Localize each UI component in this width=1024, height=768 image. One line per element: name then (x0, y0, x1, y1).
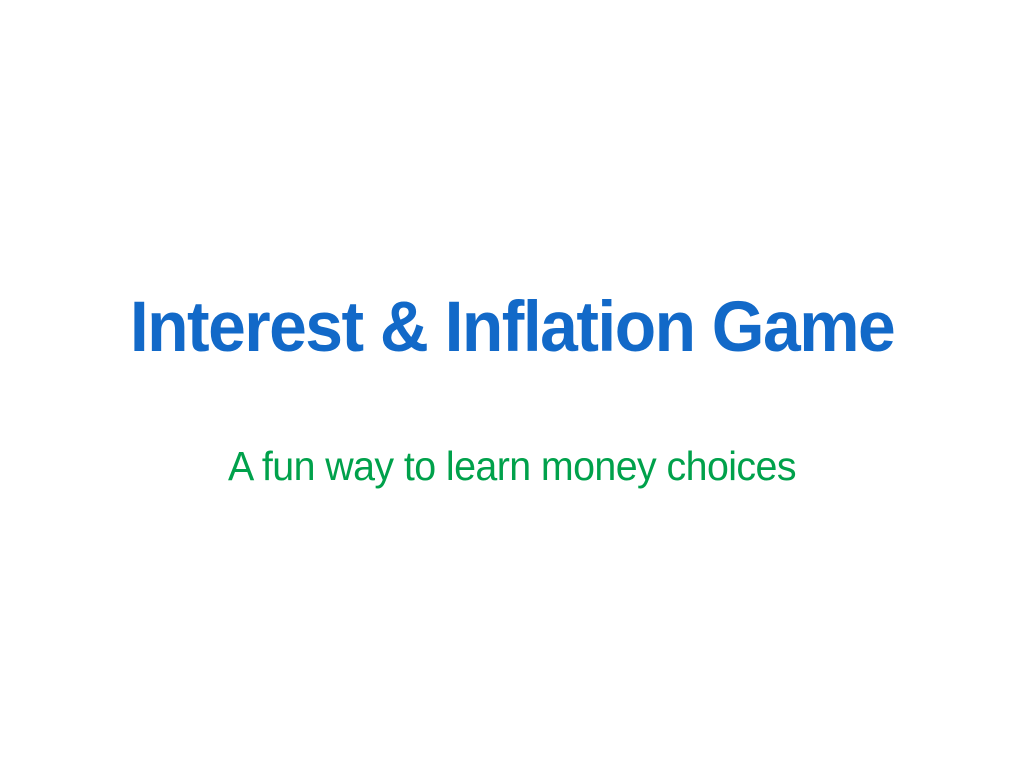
slide-subtitle: A fun way to learn money choices (20, 441, 1003, 491)
subtitle-placeholder: A fun way to learn money choices (0, 441, 1024, 491)
title-placeholder: Interest & Inflation Game (0, 286, 1024, 370)
slide-title: Interest & Inflation Game (23, 286, 1001, 370)
title-slide: Interest & Inflation Game A fun way to l… (0, 0, 1024, 768)
